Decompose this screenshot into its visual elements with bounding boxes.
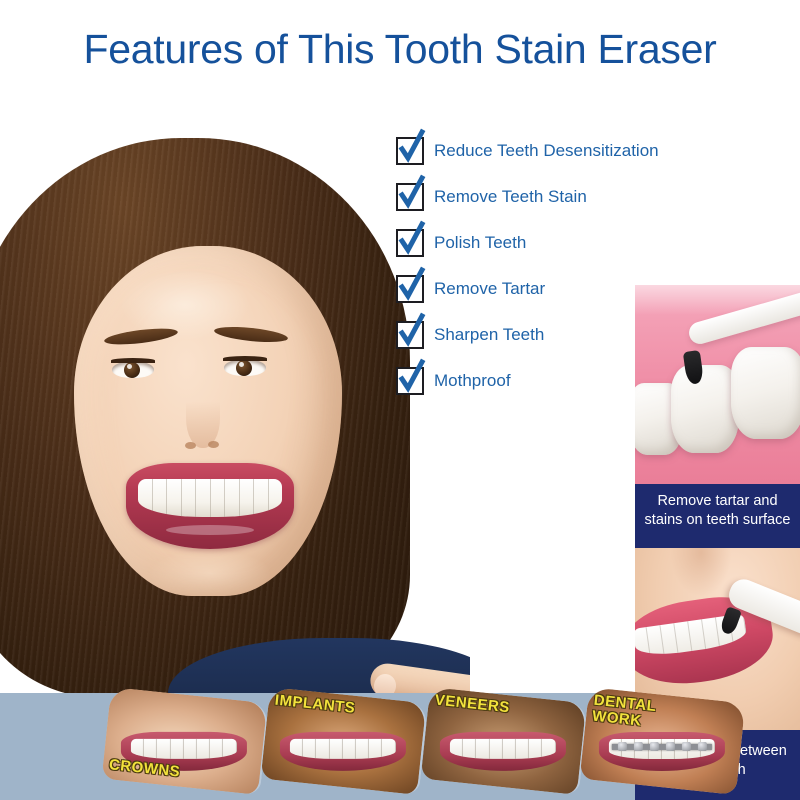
nostril-right (208, 441, 219, 448)
teeth (290, 739, 396, 759)
chin-highlight (150, 550, 270, 596)
panel-gum-diagram (635, 285, 800, 484)
molar-right (731, 347, 800, 439)
teeth (138, 479, 282, 517)
feature-label: Mothproof (434, 371, 511, 391)
feature-label: Sharpen Teeth (434, 325, 544, 345)
eye-right (224, 359, 266, 376)
feature-label: Remove Tartar (434, 279, 545, 299)
caption-line-2: stains on teeth surface (635, 511, 800, 530)
pointing-hand (378, 638, 470, 693)
teeth (131, 739, 237, 759)
checkbox-checked-icon[interactable] (396, 137, 424, 165)
teeth (449, 739, 555, 759)
page-title: Features of This Tooth Stain Eraser (0, 26, 800, 73)
braces-wire (611, 743, 712, 749)
iris-right (236, 360, 252, 376)
molar-center (671, 365, 739, 453)
thumbnail-strip: CROWNS IMPLANTS VENEERS (0, 693, 635, 800)
thumbnail-implants[interactable]: IMPLANTS (261, 687, 429, 795)
smiling-mouth (126, 463, 294, 549)
iris-left (124, 362, 140, 378)
product-feature-image: Features of This Tooth Stain Eraser (0, 0, 800, 800)
eyelash-right (223, 356, 267, 361)
eyelash-left (111, 358, 155, 363)
nostril-left (185, 442, 196, 449)
feature-item-3[interactable]: Polish Teeth (396, 220, 706, 266)
eye-left (112, 361, 154, 378)
checkbox-checked-icon[interactable] (396, 321, 424, 349)
feature-label: Remove Teeth Stain (434, 187, 587, 207)
checkbox-checked-icon[interactable] (396, 183, 424, 211)
lip-highlight (166, 525, 254, 535)
caption-remove-tartar: Remove tartar and stains on teeth surfac… (635, 484, 800, 548)
thumbnail-label: DENTAL WORK (591, 693, 657, 731)
smile (598, 732, 724, 771)
feature-item-2[interactable]: Remove Teeth Stain (396, 174, 706, 220)
thumbnail-veneers[interactable]: VENEERS (420, 687, 588, 795)
feature-label: Reduce Teeth Desensitization (434, 141, 659, 161)
checkbox-checked-icon[interactable] (396, 275, 424, 303)
checkbox-checked-icon[interactable] (396, 367, 424, 395)
thumbnail-crowns[interactable]: CROWNS (102, 687, 270, 795)
feature-item-1[interactable]: Reduce Teeth Desensitization (396, 128, 706, 174)
nose (186, 386, 220, 448)
smile (280, 732, 406, 771)
caption-line-1: Remove tartar and (657, 493, 777, 509)
feature-label: Polish Teeth (434, 233, 526, 253)
smile (439, 732, 565, 771)
thumbnail-dental-work[interactable]: DENTAL WORK (579, 687, 745, 795)
checkbox-checked-icon[interactable] (396, 229, 424, 257)
